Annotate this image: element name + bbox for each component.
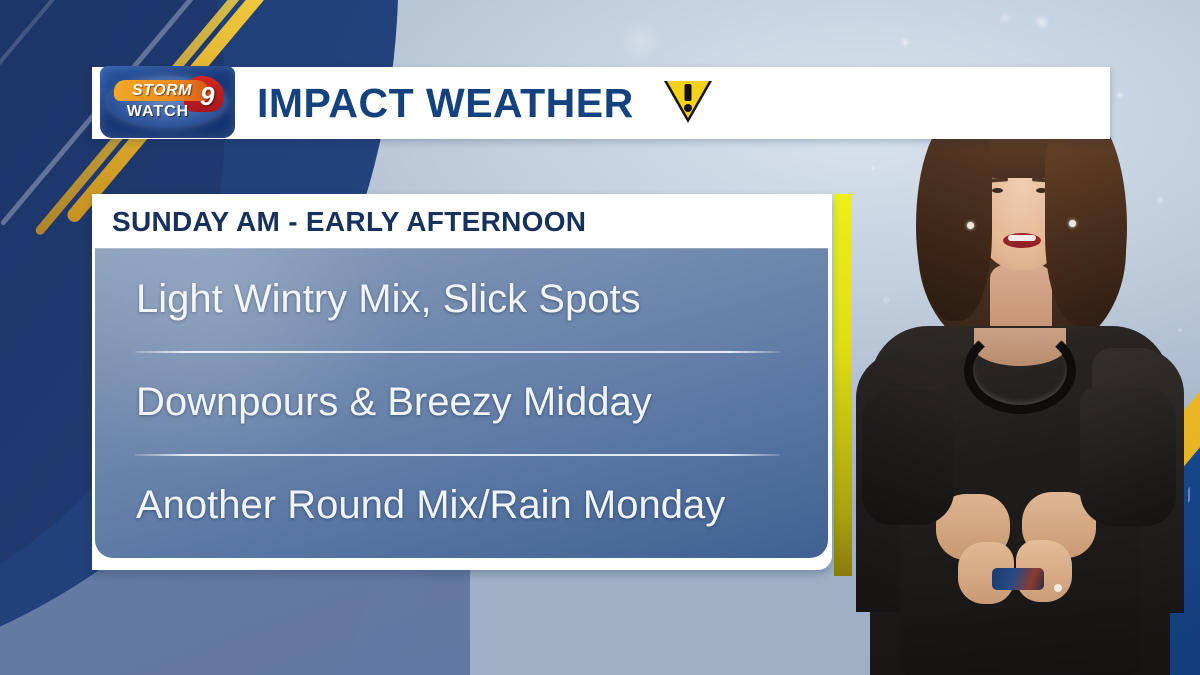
panel-yellow-accent-bar [834, 194, 852, 576]
warning-triangle-icon [664, 81, 712, 125]
forecast-bullet-list: Light Wintry Mix, Slick Spots Downpours … [95, 248, 828, 558]
forecast-bullet-1: Light Wintry Mix, Slick Spots [136, 277, 641, 322]
presenter-meteorologist [840, 90, 1200, 675]
warning-exclamation-dot [684, 104, 692, 112]
weather-broadcast-screenshot: IMPACT WEATHER STORM WATCH 9 SUNDAY AM -… [0, 0, 1200, 675]
page-title: IMPACT WEATHER [257, 80, 634, 127]
logo-watch-text: WATCH [112, 102, 204, 121]
logo-channel-number: 9 [200, 83, 214, 109]
presenter-necklace [964, 326, 1076, 414]
impact-weather-header-bar: IMPACT WEATHER [92, 67, 1110, 139]
presenter-sleeve-right [1080, 388, 1176, 526]
presenter-earring-right [1069, 220, 1076, 227]
list-item: Downpours & Breezy Midday [95, 351, 828, 454]
presenter-torso-lower [900, 520, 1140, 675]
forecast-panel-header: SUNDAY AM - EARLY AFTERNOON [92, 194, 832, 250]
list-item: Light Wintry Mix, Slick Spots [95, 248, 828, 351]
list-item: Another Round Mix/Rain Monday [95, 454, 828, 557]
forecast-headline: SUNDAY AM - EARLY AFTERNOON [112, 206, 586, 238]
forecast-bullet-3: Another Round Mix/Rain Monday [136, 483, 725, 528]
logo-storm-text: STORM [116, 80, 208, 101]
stormwatch9-logo: STORM WATCH 9 [100, 66, 235, 138]
presenter-earring-left [967, 222, 974, 229]
presenter-teeth [1008, 235, 1036, 241]
forecast-bullet-2: Downpours & Breezy Midday [136, 380, 652, 425]
presenter-hair-right [1045, 112, 1127, 327]
warning-exclamation-bar [684, 84, 691, 101]
presenter-eye-left [992, 188, 1003, 193]
presenter-hair-left [916, 116, 992, 321]
presenter-ring [1054, 584, 1062, 592]
presenter-remote-clicker [992, 568, 1044, 590]
presenter-sleeve-left [862, 390, 954, 525]
